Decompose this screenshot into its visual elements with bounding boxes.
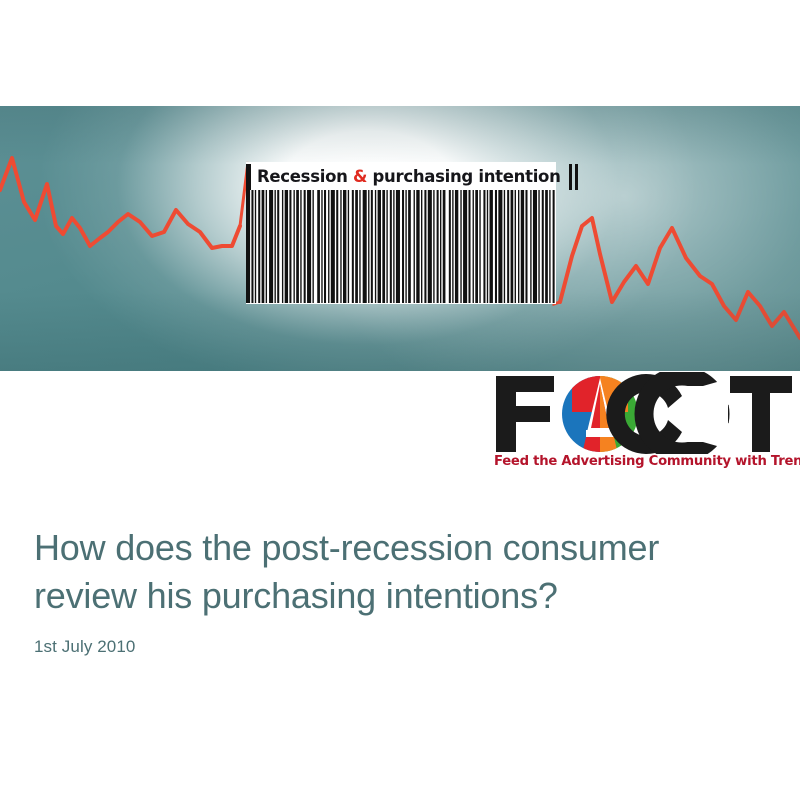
- page-date: 1st July 2010: [34, 637, 754, 657]
- barcode-caption-right-bar: [569, 164, 572, 190]
- barcode-bars: [246, 190, 556, 303]
- logo-letter-t: [730, 376, 792, 452]
- title-block: How does the post-recession consumer rev…: [34, 524, 754, 657]
- barcode-caption: Recession & purchasing intention: [246, 162, 556, 192]
- barcode-caption-right-bar-2: [575, 164, 578, 190]
- barcode-caption-ampersand: &: [353, 167, 367, 186]
- barcode-graphic: Recession & purchasing intention: [246, 162, 556, 304]
- barcode-caption-text: Recession & purchasing intention: [251, 169, 566, 186]
- fact-wordmark: [492, 372, 792, 454]
- fact-tagline: Feed the Advertising Community with Tren…: [494, 454, 792, 469]
- hero-banner: Recession & purchasing intention: [0, 106, 800, 371]
- logo-letter-f: [496, 376, 554, 452]
- page-title: How does the post-recession consumer rev…: [34, 524, 754, 619]
- fact-logo: Feed the Advertising Community with Tren…: [492, 372, 792, 478]
